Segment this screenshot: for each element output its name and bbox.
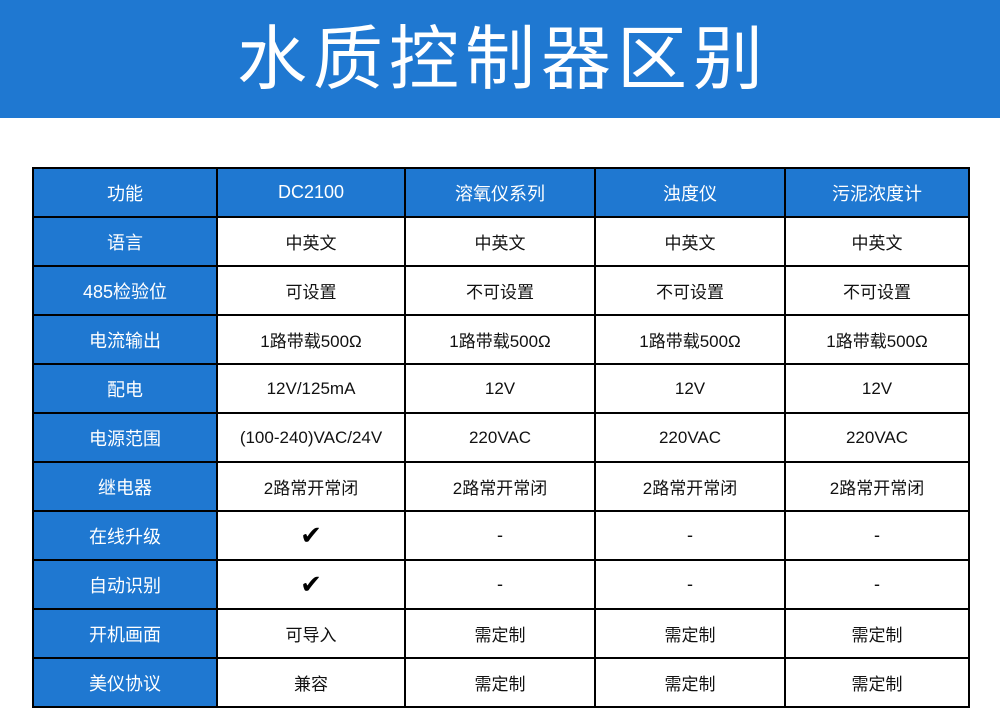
- cell-value: 需定制: [785, 658, 969, 707]
- cell-value: 中英文: [785, 217, 969, 266]
- cell-value: 12V: [405, 364, 595, 413]
- cell-value: 12V: [785, 364, 969, 413]
- column-header-sludge: 污泥浓度计: [785, 168, 969, 217]
- table-header-row: 功能 DC2100 溶氧仪系列 浊度仪 污泥浓度计: [33, 168, 969, 217]
- table-row: 继电器 2路常开常闭 2路常开常闭 2路常开常闭 2路常开常闭: [33, 462, 969, 511]
- row-label-boot-screen: 开机画面: [33, 609, 217, 658]
- cell-value: 兼容: [217, 658, 405, 707]
- cell-value: 220VAC: [595, 413, 785, 462]
- column-header-dc2100: DC2100: [217, 168, 405, 217]
- table-row: 485检验位 可设置 不可设置 不可设置 不可设置: [33, 266, 969, 315]
- cell-value: -: [785, 560, 969, 609]
- row-label-relay: 继电器: [33, 462, 217, 511]
- table-row: 语言 中英文 中英文 中英文 中英文: [33, 217, 969, 266]
- cell-value: 1路带载500Ω: [217, 315, 405, 364]
- cell-value: 1路带载500Ω: [405, 315, 595, 364]
- cell-value: 需定制: [405, 658, 595, 707]
- cell-value: 220VAC: [785, 413, 969, 462]
- comparison-table: 功能 DC2100 溶氧仪系列 浊度仪 污泥浓度计 语言 中英文 中英文 中英文…: [32, 167, 970, 708]
- cell-value: 中英文: [595, 217, 785, 266]
- cell-value: -: [405, 560, 595, 609]
- dash-icon: -: [874, 525, 880, 546]
- cell-value: ✔: [217, 511, 405, 560]
- cell-value: 可设置: [217, 266, 405, 315]
- cell-value: 需定制: [785, 609, 969, 658]
- row-label-power-distribution: 配电: [33, 364, 217, 413]
- row-label-online-upgrade: 在线升级: [33, 511, 217, 560]
- table-row: 在线升级 ✔ - - -: [33, 511, 969, 560]
- table-row: 配电 12V/125mA 12V 12V 12V: [33, 364, 969, 413]
- row-label-power-range: 电源范围: [33, 413, 217, 462]
- row-label-auto-recognition: 自动识别: [33, 560, 217, 609]
- cell-value: 12V/125mA: [217, 364, 405, 413]
- page-root: 水质控制器区别 功能 DC2100 溶氧仪系列 浊度仪 污泥浓度计 语言 中英文: [0, 0, 1000, 728]
- cell-value: 需定制: [595, 609, 785, 658]
- page-title: 水质控制器区别: [231, 24, 769, 94]
- table-body: 语言 中英文 中英文 中英文 中英文 485检验位 可设置 不可设置 不可设置 …: [33, 217, 969, 707]
- table-row: 开机画面 可导入 需定制 需定制 需定制: [33, 609, 969, 658]
- cell-value: 需定制: [595, 658, 785, 707]
- table-row: 电流输出 1路带载500Ω 1路带载500Ω 1路带载500Ω 1路带载500Ω: [33, 315, 969, 364]
- cell-value: 不可设置: [595, 266, 785, 315]
- cell-value: 12V: [595, 364, 785, 413]
- table-row: 自动识别 ✔ - - -: [33, 560, 969, 609]
- cell-value: (100-240)VAC/24V: [217, 413, 405, 462]
- cell-value: -: [595, 560, 785, 609]
- checkmark-icon: ✔: [300, 522, 322, 548]
- row-label-current-output: 电流输出: [33, 315, 217, 364]
- comparison-table-container: 功能 DC2100 溶氧仪系列 浊度仪 污泥浓度计 语言 中英文 中英文 中英文…: [32, 167, 968, 708]
- table-row: 电源范围 (100-240)VAC/24V 220VAC 220VAC 220V…: [33, 413, 969, 462]
- dash-icon: -: [687, 574, 693, 595]
- row-label-meiyi-protocol: 美仪协议: [33, 658, 217, 707]
- cell-value: 2路常开常闭: [217, 462, 405, 511]
- cell-value: 1路带载500Ω: [785, 315, 969, 364]
- column-header-feature: 功能: [33, 168, 217, 217]
- cell-value: 2路常开常闭: [405, 462, 595, 511]
- cell-value: ✔: [217, 560, 405, 609]
- cell-value: -: [785, 511, 969, 560]
- column-header-do-series: 溶氧仪系列: [405, 168, 595, 217]
- dash-icon: -: [874, 574, 880, 595]
- cell-value: -: [405, 511, 595, 560]
- cell-value: 2路常开常闭: [785, 462, 969, 511]
- dash-icon: -: [497, 574, 503, 595]
- checkmark-icon: ✔: [300, 571, 322, 597]
- table-row: 美仪协议 兼容 需定制 需定制 需定制: [33, 658, 969, 707]
- row-label-485-parity: 485检验位: [33, 266, 217, 315]
- cell-value: 可导入: [217, 609, 405, 658]
- cell-value: 中英文: [217, 217, 405, 266]
- column-header-turbidity: 浊度仪: [595, 168, 785, 217]
- cell-value: 220VAC: [405, 413, 595, 462]
- cell-value: -: [595, 511, 785, 560]
- row-label-language: 语言: [33, 217, 217, 266]
- cell-value: 中英文: [405, 217, 595, 266]
- cell-value: 2路常开常闭: [595, 462, 785, 511]
- table-header: 功能 DC2100 溶氧仪系列 浊度仪 污泥浓度计: [33, 168, 969, 217]
- cell-value: 不可设置: [785, 266, 969, 315]
- cell-value: 1路带载500Ω: [595, 315, 785, 364]
- dash-icon: -: [497, 525, 503, 546]
- cell-value: 需定制: [405, 609, 595, 658]
- dash-icon: -: [687, 525, 693, 546]
- page-banner: 水质控制器区别: [0, 0, 1000, 118]
- cell-value: 不可设置: [405, 266, 595, 315]
